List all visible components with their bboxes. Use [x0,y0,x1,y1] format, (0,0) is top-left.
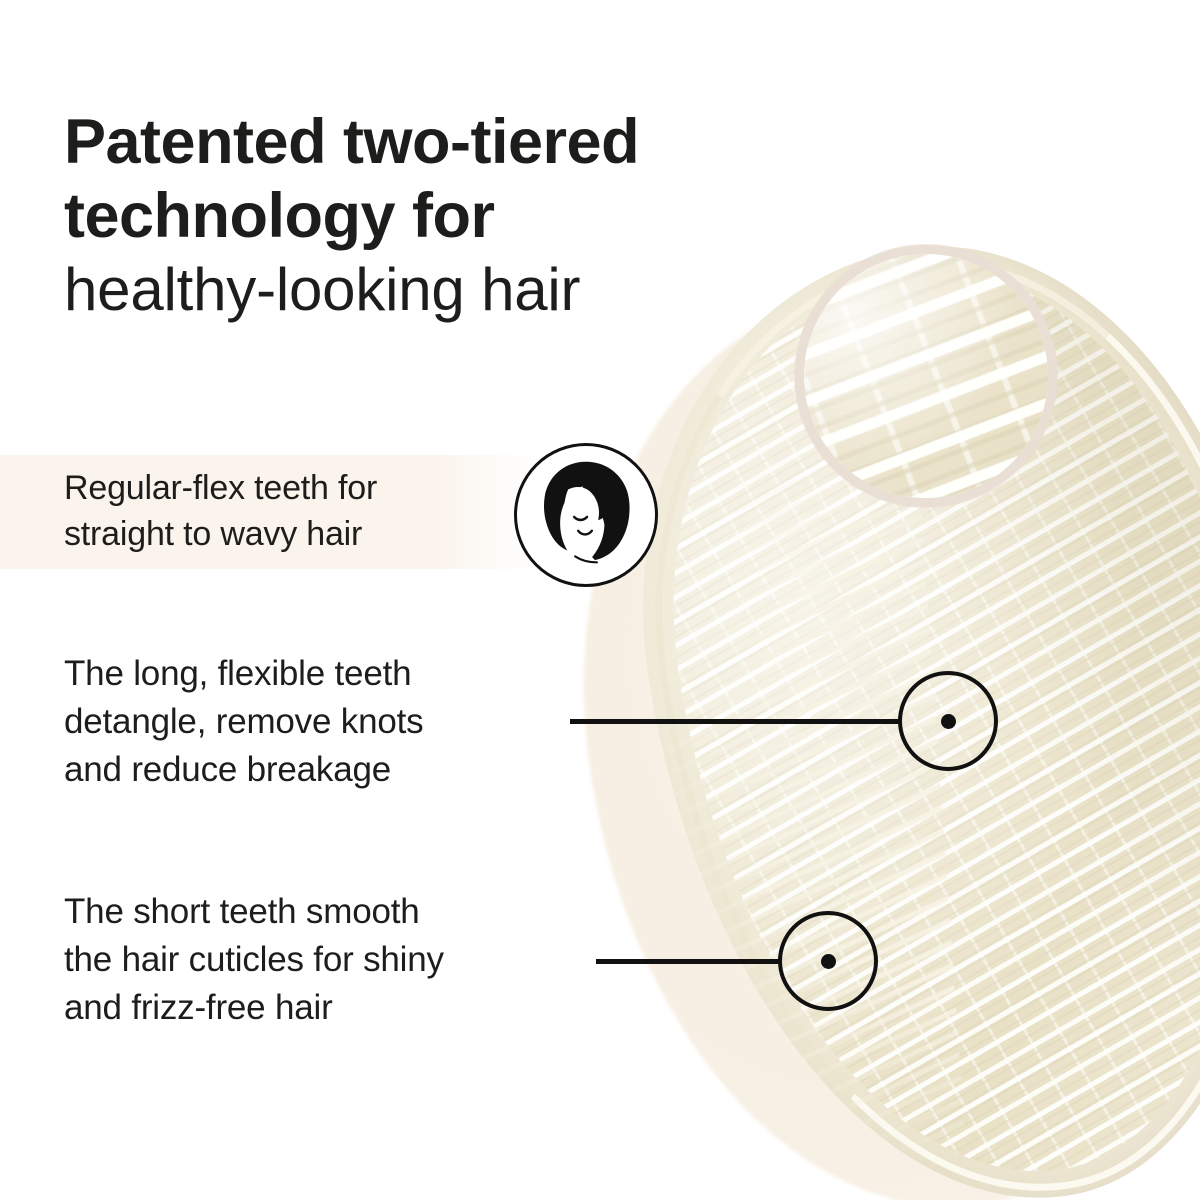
leader-line-1 [570,719,902,724]
band-line-1: Regular-flex teeth for [64,465,534,511]
target-circle-1 [898,671,998,771]
feature-1-line-3: and reduce breakage [64,746,584,794]
band-line-2: straight to wavy hair [64,511,534,557]
feature-1-line-2: detangle, remove knots [64,698,584,746]
woman-wavy-hair-icon [514,443,658,587]
page-title: Patented two-tiered technology for healt… [64,105,854,327]
leader-line-2 [596,959,782,964]
feature-1-line-1: The long, flexible teeth [64,650,584,698]
highlight-band-text: Regular-flex teeth for straight to wavy … [64,465,534,557]
feature-text-long-flexible-teeth: The long, flexible teeth detangle, remov… [64,650,584,794]
target-circle-2 [778,911,878,1011]
headline-line-1: Patented two-tiered [64,105,854,179]
feature-2-line-2: the hair cuticles for shiny [64,936,604,984]
target-dot-2 [821,954,836,969]
feature-2-line-1: The short teeth smooth [64,888,604,936]
feature-2-line-3: and frizz-free hair [64,984,604,1032]
headline-line-2: technology for [64,179,854,253]
headline-line-3: healthy-looking hair [64,253,854,327]
feature-text-short-teeth-smooth: The short teeth smooth the hair cuticles… [64,888,604,1032]
target-dot-1 [941,714,956,729]
infographic-canvas: Patented two-tiered technology for healt… [0,0,1200,1200]
